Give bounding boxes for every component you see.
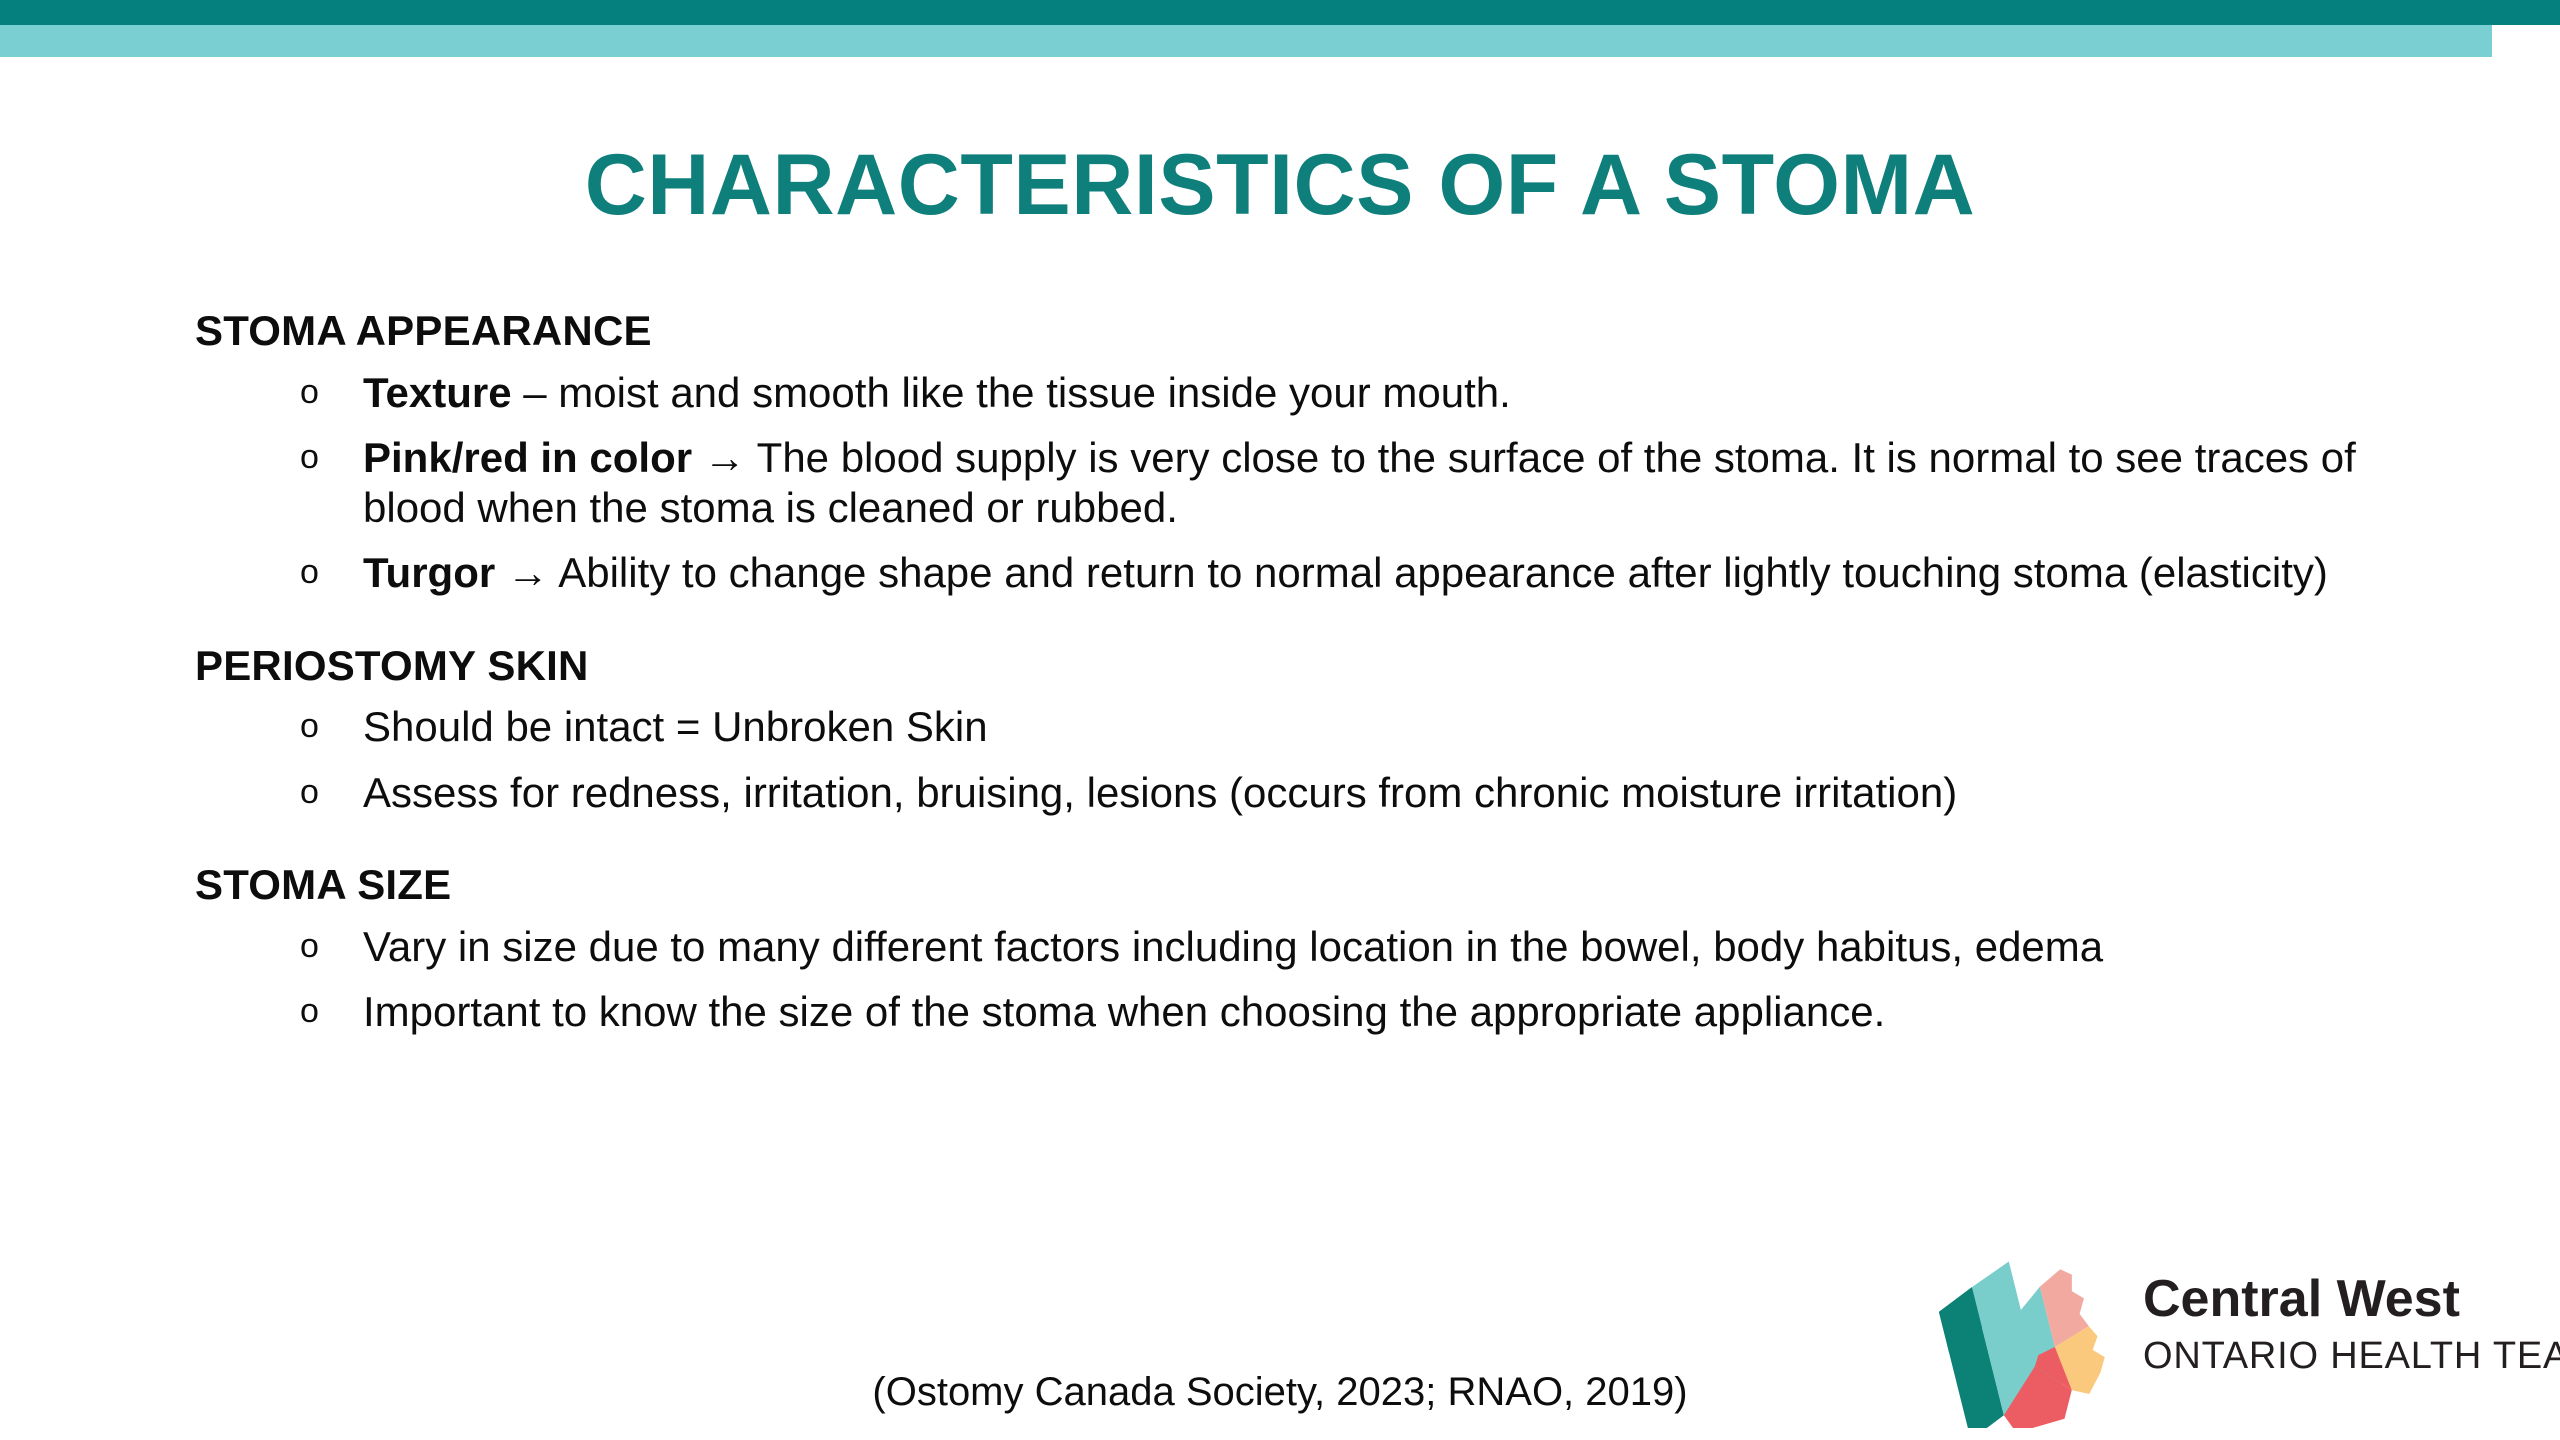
- bullet-marker-icon: o: [300, 702, 319, 750]
- content-section: STOMA APPEARANCEoTexture – moist and smo…: [195, 305, 2425, 598]
- bullet-item: oTurgor → Ability to change shape and re…: [195, 548, 2425, 598]
- bullet-text: Should be intact = Unbroken Skin: [363, 703, 988, 750]
- bullet-item: oTexture – moist and smooth like the tis…: [195, 368, 2425, 418]
- content-section: STOMA SIZEoVary in size due to many diff…: [195, 859, 2425, 1037]
- top-dark-teal-bar: [0, 0, 2560, 25]
- bullet-text: Ability to change shape and return to no…: [549, 549, 2328, 596]
- section-heading: STOMA SIZE: [195, 859, 2425, 912]
- bullet-item: oAssess for redness, irritation, bruisin…: [195, 768, 2425, 818]
- right-arrow-icon: →: [704, 434, 746, 481]
- right-arrow-icon: →: [507, 549, 549, 596]
- section-spacer: [195, 833, 2425, 859]
- bullet-list: oVary in size due to many different fact…: [195, 922, 2425, 1037]
- page-title: CHARACTERISTICS OF A STOMA: [0, 140, 2560, 230]
- logo-subtitle: ONTARIO HEALTH TEAM: [2143, 1337, 2543, 1377]
- bullet-text: Assess for redness, irritation, bruising…: [363, 769, 1957, 816]
- central-west-oht-logo: Central West ONTARIO HEALTH TEAM: [1925, 1258, 2545, 1433]
- bullet-marker-icon: o: [300, 922, 319, 970]
- bullet-text: Important to know the size of the stoma …: [363, 988, 1885, 1035]
- bullet-marker-icon: o: [300, 768, 319, 816]
- logo-wordmark: Central West ONTARIO HEALTH TEAM: [2143, 1272, 2543, 1376]
- bullet-lead-term: Turgor: [363, 549, 495, 596]
- bullet-marker-icon: o: [300, 987, 319, 1035]
- bullet-text: – moist and smooth like the tissue insid…: [523, 369, 1511, 416]
- bullet-text: Vary in size due to many different facto…: [363, 923, 2103, 970]
- content-section: PERIOSTOMY SKINoShould be intact = Unbro…: [195, 640, 2425, 818]
- bullet-lead-term: Pink/red in color: [363, 434, 692, 481]
- slide-body: STOMA APPEARANCEoTexture – moist and smo…: [195, 305, 2425, 1053]
- slide-canvas: CHARACTERISTICS OF A STOMA STOMA APPEARA…: [0, 0, 2560, 1440]
- sections-container: STOMA APPEARANCEoTexture – moist and smo…: [195, 305, 2425, 1037]
- bullet-marker-icon: o: [300, 548, 319, 596]
- bullet-item: oPink/red in color → The blood supply is…: [195, 433, 2425, 532]
- top-light-teal-bar: [0, 25, 2492, 57]
- bullet-marker-icon: o: [300, 433, 319, 481]
- bullet-list: oShould be intact = Unbroken SkinoAssess…: [195, 702, 2425, 817]
- bullet-list: oTexture – moist and smooth like the tis…: [195, 368, 2425, 598]
- bullet-lead-term: Texture: [363, 369, 512, 416]
- bullet-item: oImportant to know the size of the stoma…: [195, 987, 2425, 1037]
- section-heading: STOMA APPEARANCE: [195, 305, 2425, 358]
- bullet-marker-icon: o: [300, 368, 319, 416]
- bullet-item: oShould be intact = Unbroken Skin: [195, 702, 2425, 752]
- section-spacer: [195, 614, 2425, 640]
- logo-name: Central West: [2143, 1272, 2543, 1327]
- logo-mark-icon: [1925, 1258, 2125, 1428]
- section-heading: PERIOSTOMY SKIN: [195, 640, 2425, 693]
- bullet-item: oVary in size due to many different fact…: [195, 922, 2425, 972]
